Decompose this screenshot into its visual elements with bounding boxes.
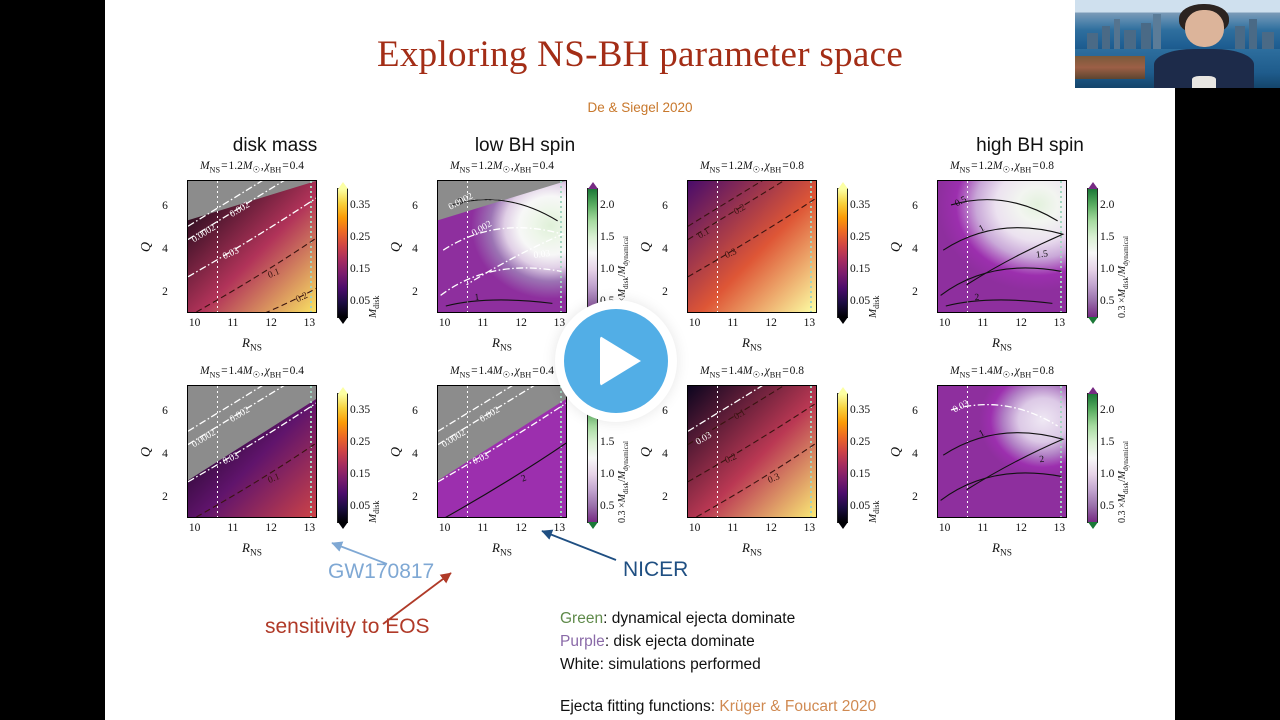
video-frame: Exploring NS-BH parameter space De & Sie… [0, 0, 1280, 720]
colorbar-tick: 0.25 [350, 436, 370, 448]
shoreline-area [1075, 56, 1145, 79]
panel-title: MNS = 1.2M☉ , χBH = 0.4 [135, 160, 369, 174]
building-icon [1087, 33, 1097, 49]
colorbar-under-arrow [588, 522, 598, 529]
play-button[interactable] [555, 300, 677, 422]
y-axis-tick: 2 [412, 286, 418, 298]
colorbar-tick: 2.0 [1100, 199, 1114, 211]
play-triangle-icon [600, 336, 641, 386]
x-axis-label: RNS [992, 540, 1012, 559]
colorbar-tick: 0.5 [1100, 295, 1114, 307]
torso-shape [1154, 49, 1254, 88]
colorbar-over-arrow [588, 182, 598, 189]
y-axis-tick: 2 [662, 286, 668, 298]
x-axis-label: RNS [242, 540, 262, 559]
building-icon [1114, 19, 1120, 49]
x-axis-tick: 11 [477, 317, 488, 329]
contour-0p3 [688, 442, 817, 518]
colorbar-over-arrow [838, 182, 848, 189]
y-axis-tick: 2 [662, 491, 668, 503]
colorbar-tick: 0.15 [850, 263, 870, 275]
contour-0p1 [688, 181, 817, 226]
annotation-gw170817: GW170817 [328, 560, 434, 584]
colorbar-tick: 0.5 [600, 500, 614, 512]
colorbar-under-arrow [338, 522, 348, 529]
colorbar-tick: 1.0 [1100, 263, 1114, 275]
building-icon [1102, 26, 1110, 49]
colorbar-under-arrow [838, 317, 848, 324]
x-axis-tick: 11 [477, 522, 488, 534]
colorbar-label: 0.3 ×Mdisk/Mdynamical [1117, 236, 1130, 318]
x-axis-tick: 12 [765, 522, 777, 534]
x-axis-tick: 13 [554, 317, 566, 329]
colorbar-tick: 2.0 [1100, 404, 1114, 416]
legend-item: Green: dynamical ejecta dominate [560, 610, 795, 628]
plot-area: 0.00020.0020.032 [437, 385, 567, 518]
colorbar: 0.350.250.150.05 [337, 188, 348, 318]
y-axis-tick: 2 [162, 286, 168, 298]
contour-2 [438, 442, 567, 518]
legend-citation-source: Krüger & Foucart 2020 [719, 698, 876, 715]
colorbar-tick: 1.5 [1100, 231, 1114, 243]
plot-area: 0.10.20.3 [687, 180, 817, 313]
colorbar-under-arrow [1088, 522, 1098, 529]
annotation-sensitivity-to-eos: sensitivity to EOS [265, 615, 430, 639]
colorbar-tick: 0.15 [850, 468, 870, 480]
colorbar-over-arrow [338, 182, 348, 189]
legend-item: White: simulations performed [560, 656, 761, 674]
y-axis-tick: 6 [162, 405, 168, 417]
colorbar-tick: 2.0 [600, 199, 614, 211]
contour-0p0002 [188, 386, 317, 431]
x-axis-tick: 13 [804, 317, 816, 329]
plot-panel-r2c1: MNS = 1.4M☉ , χBH = 0.40.00020.0020.030.… [129, 365, 383, 560]
y-axis-tick: 6 [662, 405, 668, 417]
column-heading-low-bh-spin: low BH spin [415, 135, 635, 157]
colorbar-over-arrow [1088, 387, 1098, 394]
column-heading-disk-mass: disk mass [165, 135, 385, 157]
x-axis-tick: 10 [439, 317, 451, 329]
contour-label: 1 [474, 293, 480, 303]
x-axis-label: RNS [492, 540, 512, 559]
legend-keyword: Purple [560, 633, 605, 650]
y-axis-tick: 6 [162, 200, 168, 212]
y-axis-label: Q [389, 446, 405, 456]
y-axis-label: Q [139, 446, 155, 456]
building-icon [1124, 30, 1136, 49]
contour-0p0002 [188, 181, 317, 226]
slide-citation: De & Siegel 2020 [105, 100, 1175, 115]
x-axis-tick: 10 [439, 522, 451, 534]
x-axis-label: RNS [242, 335, 262, 354]
y-axis-tick: 6 [412, 200, 418, 212]
y-axis-label: Q [139, 241, 155, 251]
contour-1p5 [941, 268, 1062, 295]
colorbar: 2.01.51.00.5 [1087, 188, 1098, 318]
plot-area: 0.00020.0020.030.10.2 [187, 180, 317, 313]
building-icon [1153, 14, 1161, 49]
plot-area: 0.030.10.20.3 [687, 385, 817, 518]
colorbar: 0.350.250.150.05 [837, 393, 848, 523]
column-heading-high-bh-spin: high BH spin [920, 135, 1140, 157]
legend-citation: Ejecta fitting functions: Krüger & Fouca… [560, 698, 876, 716]
contour-layer [688, 386, 817, 518]
x-axis-tick: 10 [689, 317, 701, 329]
contour-0p1 [188, 442, 317, 518]
colorbar-tick: 0.35 [350, 199, 370, 211]
legend-text: : disk ejecta dominate [605, 633, 755, 650]
y-axis-tick: 6 [662, 200, 668, 212]
contour-0p0002 [438, 386, 567, 431]
colorbar: 2.01.51.00.5 [1087, 393, 1098, 523]
face-shape [1185, 10, 1224, 47]
y-axis-label: Q [639, 241, 655, 251]
legend-text: : simulations performed [600, 656, 761, 673]
x-axis-tick: 13 [804, 522, 816, 534]
y-axis-tick: 4 [662, 243, 668, 255]
y-axis-tick: 4 [912, 243, 918, 255]
x-axis-tick: 13 [304, 317, 316, 329]
legend-citation-prefix: Ejecta fitting functions: [560, 698, 715, 715]
x-axis-tick: 12 [1015, 317, 1027, 329]
panel-title: MNS = 1.2M☉ , χBH = 0.8 [635, 160, 869, 174]
legend-text: : dynamical ejecta dominate [603, 610, 795, 627]
plot-area: 0.0312 [937, 385, 1067, 518]
contour-layer [188, 386, 317, 518]
x-axis-tick: 12 [265, 522, 277, 534]
contour-label: 1.5 [1035, 249, 1048, 261]
presenter-avatar [1169, 4, 1239, 88]
colorbar-label: 0.3 ×Mdisk/Mdynamical [1117, 441, 1130, 523]
colorbar-tick: 0.15 [350, 263, 370, 275]
x-axis-tick: 10 [939, 522, 951, 534]
y-axis-label: Q [389, 241, 405, 251]
panel-title: MNS = 1.4M☉ , χBH = 0.8 [885, 365, 1119, 379]
colorbar-tick: 0.5 [1100, 500, 1114, 512]
contour-2 [941, 473, 1062, 500]
x-axis-tick: 13 [1054, 522, 1066, 534]
building-icon [1141, 23, 1151, 49]
y-axis-tick: 4 [912, 448, 918, 460]
y-axis-tick: 6 [912, 200, 918, 212]
legend-item: Purple: disk ejecta dominate [560, 633, 755, 651]
x-axis-tick: 12 [515, 522, 527, 534]
contour-0p03 [441, 268, 562, 295]
plot-area: 0.00020.0020.030.1 [187, 385, 317, 518]
x-axis-tick: 13 [1054, 317, 1066, 329]
x-axis-tick: 12 [265, 317, 277, 329]
colorbar-under-arrow [1088, 317, 1098, 324]
plot-panel-r1c3: MNS = 1.2M☉ , χBH = 0.80.10.20.3246Q1011… [629, 160, 883, 355]
contour-2 [946, 300, 1053, 306]
colorbar-tick: 0.35 [850, 404, 870, 416]
contour-label: 2 [974, 293, 980, 303]
x-axis-tick: 10 [939, 317, 951, 329]
colorbar-tick: 0.25 [850, 436, 870, 448]
y-axis-label: Q [639, 446, 655, 456]
plot-area: 0.00020.0020.0312 [437, 180, 567, 313]
y-axis-tick: 4 [662, 448, 668, 460]
contour-label: 2 [1039, 455, 1045, 466]
plot-panel-r2c4: MNS = 1.4M☉ , χBH = 0.80.0312246Q1011121… [879, 365, 1133, 560]
x-axis-tick: 11 [977, 317, 988, 329]
collar-shape [1192, 76, 1216, 88]
x-axis-label: RNS [742, 335, 762, 354]
x-axis-label: RNS [492, 335, 512, 354]
colorbar-over-arrow [338, 387, 348, 394]
colorbar-over-arrow [1088, 182, 1098, 189]
colorbar-under-arrow [838, 522, 848, 529]
contour-1 [446, 300, 553, 306]
legend-keyword: White [560, 656, 600, 673]
colorbar-tick: 0.15 [350, 468, 370, 480]
y-axis-tick: 2 [412, 491, 418, 503]
webcam-thumbnail[interactable] [1075, 0, 1280, 88]
colorbar-tick: 1.0 [1100, 468, 1114, 480]
annotation-nicer: NICER [623, 558, 688, 582]
colorbar-tick: 0.35 [850, 199, 870, 211]
y-axis-tick: 6 [412, 405, 418, 417]
x-axis-tick: 11 [227, 317, 238, 329]
y-axis-tick: 2 [162, 491, 168, 503]
legend-keyword: Green [560, 610, 603, 627]
colorbar-tick: 1.5 [1100, 436, 1114, 448]
y-axis-label: Q [889, 446, 905, 456]
x-axis-tick: 12 [765, 317, 777, 329]
y-axis-tick: 4 [162, 448, 168, 460]
colorbar-tick: 1.0 [600, 468, 614, 480]
y-axis-tick: 2 [912, 286, 918, 298]
colorbar-tick: 1.0 [600, 263, 614, 275]
colorbar-tick: 0.25 [350, 231, 370, 243]
y-axis-tick: 4 [162, 243, 168, 255]
contour-layer [688, 181, 817, 313]
plot-area: 0.511.52 [937, 180, 1067, 313]
x-axis-tick: 10 [689, 522, 701, 534]
colorbar-tick: 1.5 [600, 436, 614, 448]
y-axis-tick: 4 [412, 448, 418, 460]
colorbar: 0.350.250.150.05 [837, 188, 848, 318]
x-axis-tick: 13 [554, 522, 566, 534]
x-axis-tick: 13 [304, 522, 316, 534]
y-axis-tick: 6 [912, 405, 918, 417]
x-axis-tick: 11 [227, 522, 238, 534]
plot-panel-r1c1: MNS = 1.2M☉ , χBH = 0.40.00020.0020.030.… [129, 160, 383, 355]
colorbar-tick: 1.5 [600, 231, 614, 243]
x-axis-tick: 12 [515, 317, 527, 329]
building-icon [1262, 32, 1274, 50]
x-axis-tick: 11 [977, 522, 988, 534]
building-icon [1249, 19, 1257, 49]
play-icon[interactable] [564, 309, 668, 413]
x-axis-tick: 10 [189, 317, 201, 329]
x-axis-tick: 11 [727, 522, 738, 534]
panel-title: MNS = 1.4M☉ , χBH = 0.4 [135, 365, 369, 379]
contour-layer [438, 386, 567, 518]
x-axis-label: RNS [992, 335, 1012, 354]
x-axis-label: RNS [742, 540, 762, 559]
x-axis-tick: 10 [189, 522, 201, 534]
colorbar-over-arrow [838, 387, 848, 394]
y-axis-tick: 2 [912, 491, 918, 503]
x-axis-tick: 11 [727, 317, 738, 329]
colorbar-tick: 0.25 [850, 231, 870, 243]
panel-title: MNS = 1.2M☉ , χBH = 0.8 [885, 160, 1119, 174]
colorbar-tick: 0.35 [350, 404, 370, 416]
plot-panel-r1c4: MNS = 1.2M☉ , χBH = 0.80.511.52246Q10111… [879, 160, 1133, 355]
colorbar: 2.01.51.00.5 [587, 188, 598, 318]
colorbar-under-arrow [338, 317, 348, 324]
y-axis-tick: 4 [412, 243, 418, 255]
y-axis-label: Q [889, 241, 905, 251]
colorbar: 0.350.250.150.05 [337, 393, 348, 523]
panel-title: MNS = 1.2M☉ , χBH = 0.4 [385, 160, 619, 174]
x-axis-tick: 12 [1015, 522, 1027, 534]
page-title: Exploring NS-BH parameter space [105, 33, 1175, 76]
contour-0p03 [688, 386, 817, 431]
